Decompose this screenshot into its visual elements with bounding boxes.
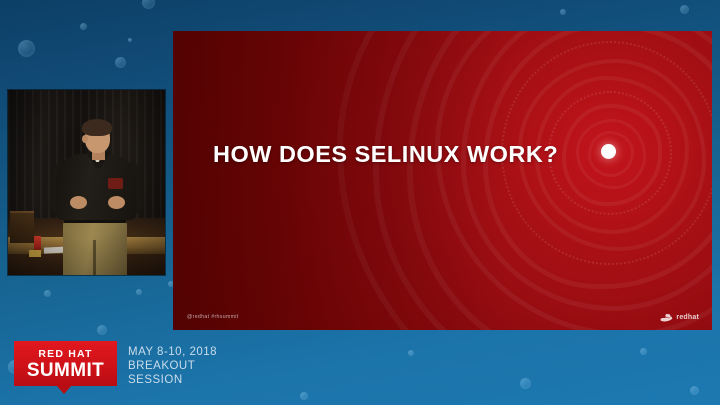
- bubble-decor: [128, 38, 132, 42]
- bubble-decor: [690, 386, 699, 395]
- session-type: BREAKOUT: [128, 359, 217, 373]
- bubble-decor: [680, 5, 689, 14]
- red-hat-logo: redhat: [660, 313, 699, 322]
- badge-tail: [56, 385, 72, 394]
- bubble-decor: [560, 9, 566, 15]
- red-hat-summit-badge: RED HAT SUMMIT: [14, 341, 117, 391]
- bubble-decor: [408, 350, 414, 356]
- presenter-video-thumbnail[interactable]: [8, 90, 165, 275]
- session-meta: MAY 8-10, 2018 BREAKOUT SESSION: [128, 345, 217, 387]
- bubble-decor: [520, 378, 531, 389]
- badge-line-red-hat: RED HAT: [14, 348, 117, 360]
- session-type-second-line: SESSION: [128, 373, 217, 387]
- slide-title: HOW DOES SELINUX WORK?: [213, 141, 613, 168]
- red-hat-shadowman-icon: [660, 313, 673, 322]
- bubble-decor: [115, 57, 126, 68]
- bubble-decor: [142, 0, 155, 9]
- slide-left-shade: [173, 31, 712, 330]
- badge-line-summit: SUMMIT: [14, 360, 117, 382]
- bubble-decor: [18, 40, 35, 57]
- bubble-decor: [44, 290, 51, 297]
- red-hat-wordmark: redhat: [676, 314, 699, 321]
- video-player-stage: HOW DOES SELINUX WORK? @redhat #rhsummit…: [0, 0, 720, 405]
- bubble-decor: [97, 325, 107, 335]
- presentation-slide[interactable]: HOW DOES SELINUX WORK? @redhat #rhsummit…: [173, 31, 712, 330]
- bubble-decor: [136, 289, 142, 295]
- bubble-decor: [80, 23, 87, 30]
- video-vignette: [8, 90, 165, 275]
- session-date: MAY 8-10, 2018: [128, 345, 217, 359]
- bubble-decor: [300, 392, 308, 400]
- bubble-decor: [640, 348, 647, 355]
- slide-social-handles: @redhat #rhsummit: [187, 314, 239, 320]
